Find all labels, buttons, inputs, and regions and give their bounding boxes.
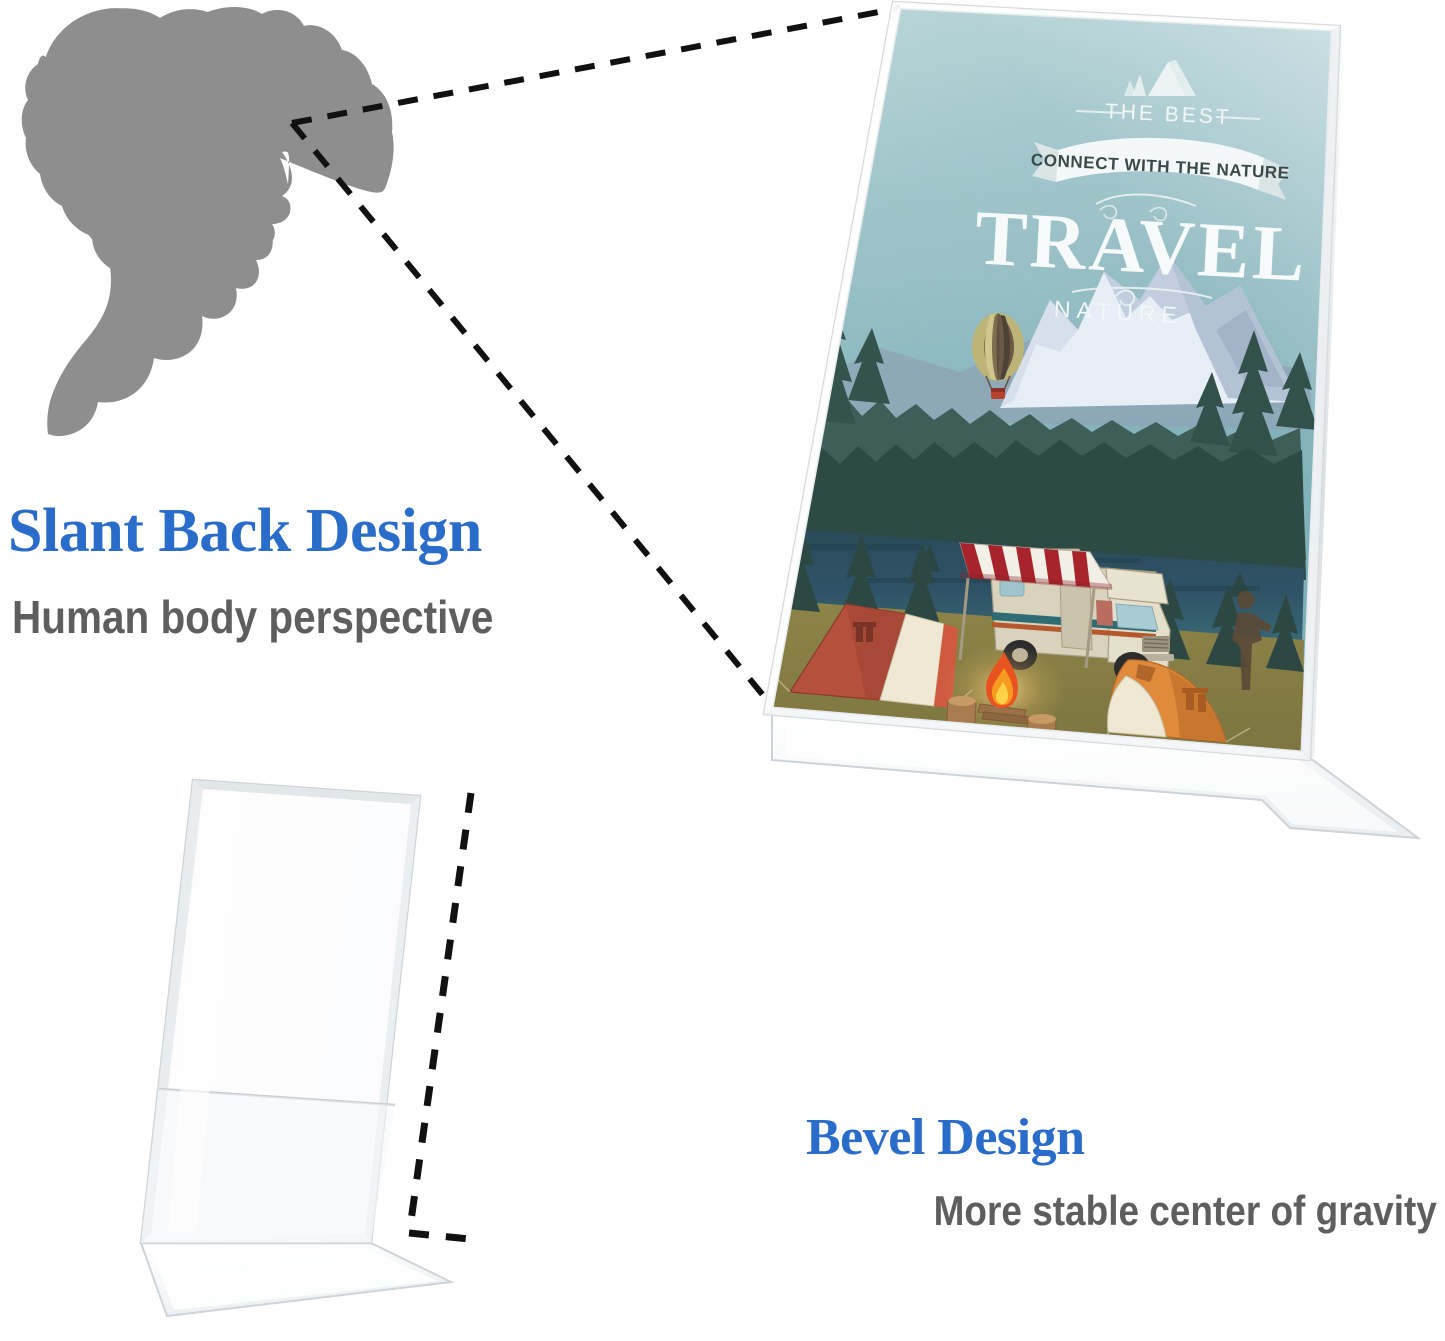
tilt-reference-slant [410, 793, 471, 1228]
tilt-reference-foot [409, 1233, 470, 1239]
travel-poster: THE BEST CONNECT WITH THE NATURE [760, 0, 1360, 758]
slant-back-subtitle: Human body perspective [12, 594, 493, 640]
bevel-headline: Bevel Design [806, 1112, 1085, 1164]
product-feature-graphic: THE BEST CONNECT WITH THE NATURE [0, 0, 1445, 1341]
woman-profile-silhouette [22, 7, 394, 436]
bevel-subtitle: More stable center of gravity [934, 1190, 1437, 1232]
acrylic-slant-back-sign-holder-with-poster: THE BEST CONNECT WITH THE NATURE [760, 0, 1418, 838]
slant-back-headline: Slant Back Design [8, 500, 482, 562]
acrylic-slant-back-sign-holder-empty [141, 780, 451, 1316]
vertical-tilt-reference-dashed [409, 793, 471, 1239]
poster-title: TRAVEL [973, 193, 1310, 297]
illustration-canvas: THE BEST CONNECT WITH THE NATURE [0, 0, 1445, 1341]
